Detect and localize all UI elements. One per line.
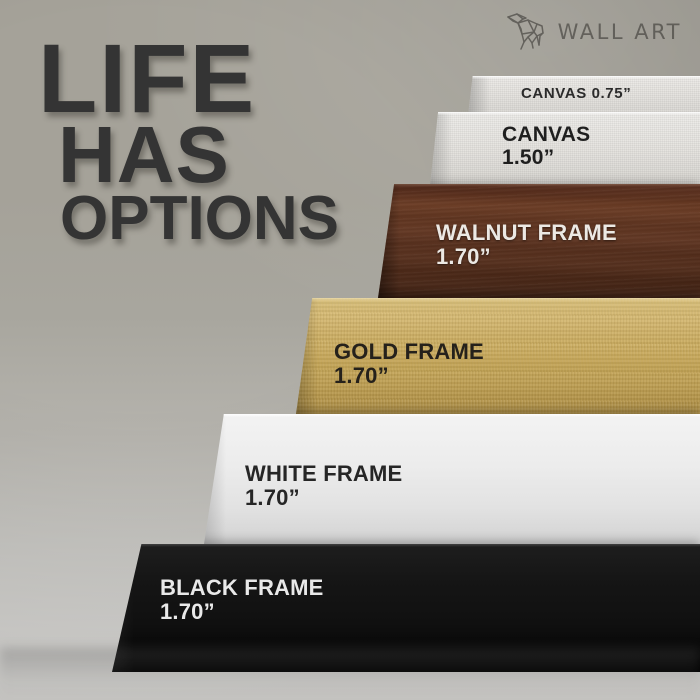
panel-top-highlight — [468, 76, 700, 79]
panel-side-face — [296, 298, 318, 414]
panel-contact-shadow — [112, 670, 700, 672]
product-options-poster: LIFE HAS OPTIONS WALL ART CANVAS 0.75” — [0, 0, 700, 700]
option-label-canvas-075: CANVAS 0.75” — [521, 86, 631, 102]
panel-contact-shadow — [296, 412, 700, 414]
option-label-black-frame: BLACK FRAME 1.70” — [160, 576, 324, 624]
option-panel-black-frame[interactable]: BLACK FRAME 1.70” — [112, 544, 700, 672]
panel-top-highlight — [204, 414, 700, 417]
panel-side-face — [112, 544, 134, 672]
page-title: LIFE HAS OPTIONS — [38, 38, 339, 245]
option-panel-canvas-150[interactable]: CANVAS 1.50” — [430, 112, 700, 186]
option-label-white-frame: WHITE FRAME 1.70” — [245, 462, 402, 510]
panel-side-face — [204, 414, 226, 544]
panel-side-face — [378, 184, 400, 298]
option-label-gold-frame: GOLD FRAME 1.70” — [334, 340, 484, 388]
panel-contact-shadow — [378, 296, 700, 298]
panel-top-highlight — [296, 298, 700, 301]
panel-contact-shadow — [204, 542, 700, 544]
option-panel-white-frame[interactable]: WHITE FRAME 1.70” — [204, 414, 700, 544]
panel-top-highlight — [378, 184, 700, 187]
option-panel-canvas-075[interactable]: CANVAS 0.75” — [468, 76, 700, 116]
panel-side-face — [430, 112, 452, 186]
brand-logo: WALL ART — [504, 12, 682, 52]
option-label-walnut-frame: WALNUT FRAME 1.70” — [436, 221, 617, 269]
brand-name: WALL ART — [558, 20, 682, 44]
option-panel-gold-frame[interactable]: GOLD FRAME 1.70” — [296, 298, 700, 414]
panel-side-face — [468, 76, 490, 116]
headline-line-1: LIFE — [38, 38, 339, 119]
headline-line-3: OPTIONS — [60, 193, 339, 245]
option-panel-walnut-frame[interactable]: WALNUT FRAME 1.70” — [378, 184, 700, 298]
headline-line-2: HAS — [58, 121, 339, 188]
origami-goat-icon — [504, 12, 550, 52]
panel-top-highlight — [430, 112, 700, 115]
option-label-canvas-150: CANVAS 1.50” — [502, 124, 590, 169]
panel-top-highlight — [112, 544, 700, 547]
